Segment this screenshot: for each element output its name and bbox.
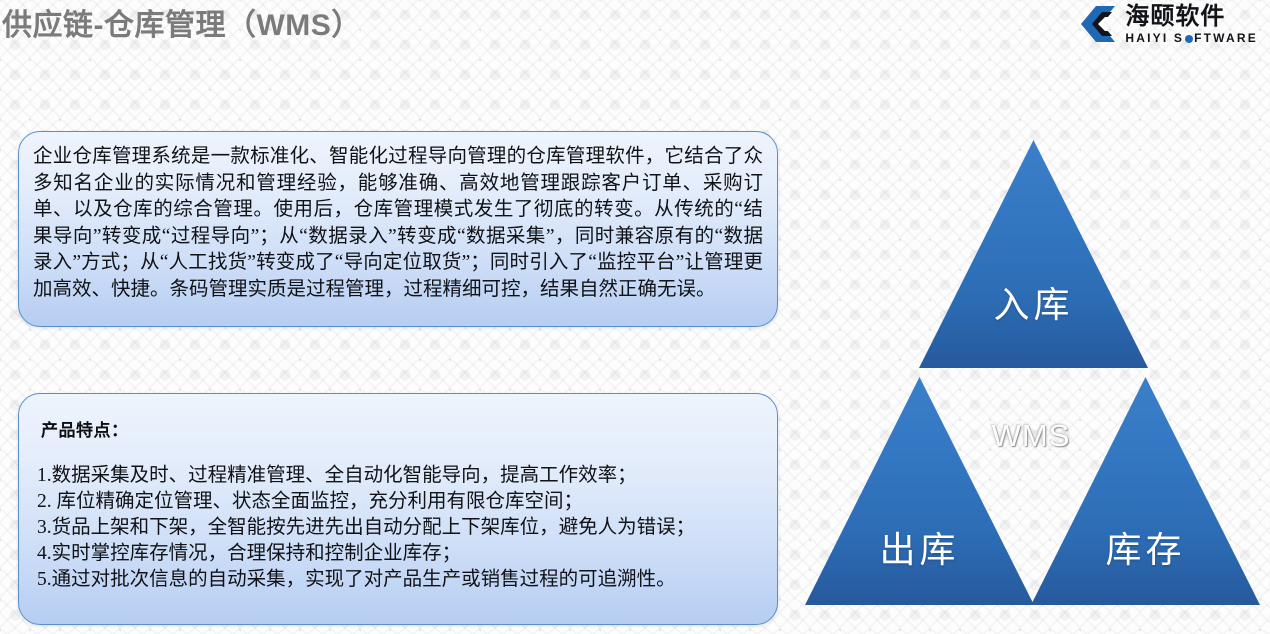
logo-name-en: HAIYI SFTWARE: [1125, 32, 1258, 44]
features-list: 1.数据采集及时、过程精准管理、全自动化智能导向，提高工作效率； 2. 库位精确…: [37, 463, 763, 593]
triangle-inventory: 库存: [1031, 377, 1260, 605]
features-panel: 产品特点： 1.数据采集及时、过程精准管理、全自动化智能导向，提高工作效率； 2…: [18, 393, 778, 625]
triangle-inventory-label: 库存: [1105, 521, 1185, 573]
list-item: 4.实时掌控库存情况，合理保持和控制企业库存；: [37, 541, 763, 567]
logo-name-cn: 海颐软件: [1125, 5, 1258, 29]
triangle-inbound-label: 入库: [993, 276, 1073, 328]
wms-center-label: WMS: [800, 418, 1262, 454]
list-item: 5.通过对批次信息的自动采集，实现了对产品生产或销售过程的可追溯性。: [37, 567, 763, 593]
wms-triangle-diagram: 入库 出库 库存 WMS: [800, 140, 1262, 610]
triangle-inbound: 入库: [919, 140, 1148, 368]
logo-o-dot-icon: [1185, 35, 1193, 43]
logo-en-prefix: HAIYI S: [1125, 31, 1184, 45]
company-logo: 海颐软件 HAIYI SFTWARE: [1079, 2, 1258, 46]
triangle-outbound-label: 出库: [879, 521, 959, 573]
features-heading: 产品特点：: [41, 416, 763, 441]
intro-panel: 企业仓库管理系统是一款标准化、智能化过程导向管理的仓库管理软件，它结合了众多知名…: [18, 131, 778, 327]
triangle-outbound: 出库: [805, 377, 1034, 605]
triangle-shape: [919, 140, 1148, 368]
list-item: 2. 库位精确定位管理、状态全面监控，充分利用有限仓库空间；: [37, 489, 763, 515]
intro-paragraph: 企业仓库管理系统是一款标准化、智能化过程导向管理的仓库管理软件，它结合了众多知名…: [33, 144, 763, 303]
logo-wordmark: 海颐软件 HAIYI SFTWARE: [1125, 5, 1258, 44]
page-title: 供应链-仓库管理（WMS）: [2, 6, 362, 46]
haiyi-logo-mark-icon: [1079, 4, 1119, 44]
list-item: 1.数据采集及时、过程精准管理、全自动化智能导向，提高工作效率；: [37, 463, 763, 489]
logo-en-suffix: FTWARE: [1194, 31, 1258, 45]
slide-canvas: 供应链-仓库管理（WMS） 海颐软件 HAIYI SFTWARE 企业仓库管理系…: [0, 0, 1270, 634]
list-item: 3.货品上架和下架，全智能按先进先出自动分配上下架库位，避免人为错误；: [37, 515, 763, 541]
